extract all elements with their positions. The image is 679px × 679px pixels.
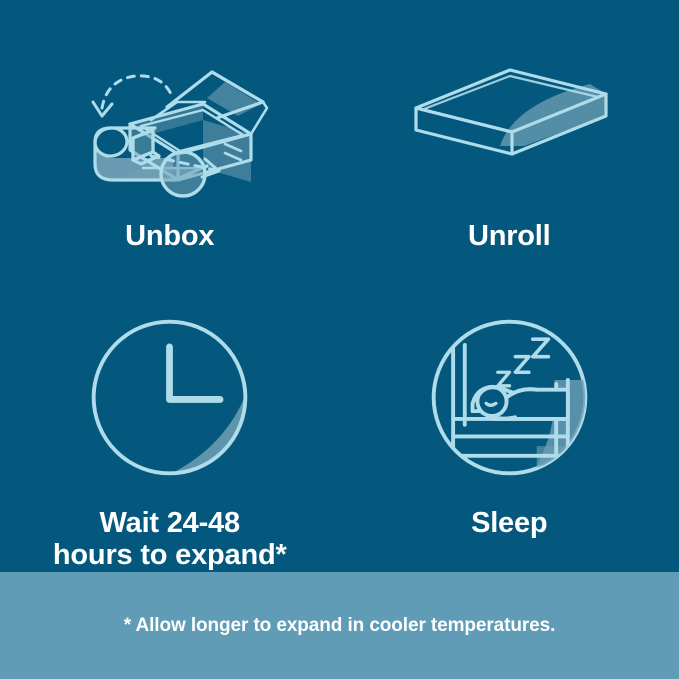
step-unbox: Unbox <box>0 0 340 286</box>
step-sleep: Sleep <box>340 286 679 572</box>
step-label-wait: Wait 24-48 hours to expand* <box>53 507 287 572</box>
footer-band: * Allow longer to expand in cooler tempe… <box>0 572 679 679</box>
person-sleeping-in-bed-icon <box>422 310 597 485</box>
step-label-unbox: Unbox <box>125 220 214 252</box>
infographic-poster: Unbox Unroll <box>0 0 679 679</box>
step-label-unroll: Unroll <box>468 220 551 252</box>
step-label-sleep: Sleep <box>471 507 547 539</box>
footnote-text: * Allow longer to expand in cooler tempe… <box>124 615 556 637</box>
steps-grid: Unbox Unroll <box>0 0 679 572</box>
clock-icon <box>82 310 257 485</box>
flat-mattress-icon <box>394 46 624 206</box>
step-unroll: Unroll <box>340 0 679 286</box>
step-wait: Wait 24-48 hours to expand* <box>0 286 340 572</box>
box-with-rolled-mattress-icon <box>55 46 285 206</box>
